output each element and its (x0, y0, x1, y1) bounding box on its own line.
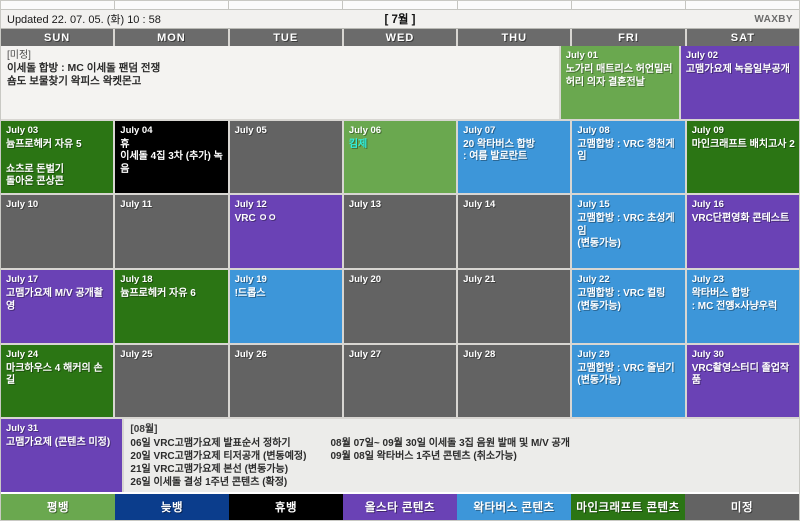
day-events: 고맴가요제 녹음일부공개 (686, 64, 795, 77)
day-cell[interactable]: July 24마크하우스 4 해커의 손길 (1, 345, 115, 418)
day-cell[interactable]: July 05 (230, 121, 344, 194)
day-cell[interactable]: July 12VRC ㅇㅇ (230, 195, 344, 268)
brand-label: WAXBY (754, 14, 793, 25)
day-events: 노가리 매트리스 허언밀러 허리 의자 결혼전날 (566, 64, 675, 89)
undecided-lines: 이세돌 합방 : MC 이세돌 팬덤 전쟁 숌도 보물찾기 왁피스 왁켓몬고 (7, 62, 553, 88)
undecided-band[interactable]: [미정]이세돌 합방 : MC 이세돌 팬덤 전쟁 숌도 보물찾기 왁피스 왁켓… (1, 46, 561, 119)
day-cell[interactable]: July 06킴제 (344, 121, 458, 194)
day-cell[interactable]: July 26 (230, 345, 344, 418)
legend-item[interactable]: 미정 (685, 494, 799, 520)
day-cell[interactable]: July 18늄프로헤커 자유 6 (115, 270, 229, 343)
top-strip-segment (229, 1, 343, 9)
day-number: July 23 (692, 274, 795, 285)
top-strip-segment (343, 1, 457, 9)
weekday-sun: SUN (1, 29, 115, 46)
day-number: July 22 (577, 274, 680, 285)
day-number: July 07 (463, 125, 566, 136)
day-number: July 24 (6, 349, 109, 360)
legend-bar: 평뱅늦뱅휴뱅올스타 콘텐츠왁타버스 콘텐츠마인크래프트 콘텐츠미정 (1, 492, 799, 520)
day-cell[interactable]: July 31고맴가요제 (콘텐츠 미정) (1, 419, 124, 492)
day-number: July 08 (577, 125, 680, 136)
day-events: 고맴합방 : VRC 컬링 (변동가능) (577, 288, 680, 313)
day-number: July 06 (349, 125, 452, 136)
week-row: July 24마크하우스 4 해커의 손길July 25July 26July … (1, 345, 799, 420)
top-strip-segment (686, 1, 799, 9)
day-cell[interactable]: July 14 (458, 195, 572, 268)
day-cell[interactable]: July 15고맴합방 : VRC 초성게임 (변동가능) (572, 195, 686, 268)
day-events: 고맴가요제 (콘텐츠 미정) (6, 437, 118, 450)
legend-item[interactable]: 평뱅 (1, 494, 115, 520)
week-row: July 03늄프로헤커 자유 5 쇼츠로 돈벌기 돌아온 콘상콘July 04… (1, 121, 799, 196)
undecided-tag: [미정] (7, 49, 553, 62)
day-number: July 21 (463, 274, 566, 285)
day-cell[interactable]: July 27 (344, 345, 458, 418)
day-number: July 05 (235, 125, 338, 136)
day-cell[interactable]: July 20 (344, 270, 458, 343)
day-number: July 20 (349, 274, 452, 285)
notes-august-block: [08월]06일 VRC고맴가요제 발표순서 정하기 20일 VRC고맴가요제 … (130, 423, 306, 488)
day-number: July 09 (692, 125, 795, 136)
notes-august-list: 06일 VRC고맴가요제 발표순서 정하기 20일 VRC고맴가요제 티저공개 … (130, 438, 306, 488)
day-cell[interactable]: July 09마인크래프트 배치고사 2 (687, 121, 799, 194)
day-number: July 26 (235, 349, 338, 360)
calendar-app: Updated 22. 07. 05. (화) 10 : 58 [ 7월 ] W… (0, 0, 800, 521)
day-events: VRC촬영스터디 졸업작품 (692, 363, 795, 388)
legend-item[interactable]: 올스타 콘텐츠 (343, 494, 457, 520)
top-edge-strip (1, 1, 799, 10)
day-number: July 17 (6, 274, 109, 285)
day-number: July 18 (120, 274, 223, 285)
day-number: July 25 (120, 349, 223, 360)
day-events: 고맴가요제 M/V 공개촬영 (6, 288, 109, 313)
monthly-notes-panel[interactable]: [08월]06일 VRC고맴가요제 발표순서 정하기 20일 VRC고맴가요제 … (124, 419, 799, 492)
day-number: July 27 (349, 349, 452, 360)
day-number: July 04 (120, 125, 223, 136)
day-cell[interactable]: July 23왁타버스 합방 : MC 전얭×사냥우럭 (687, 270, 799, 343)
day-cell[interactable]: July 03늄프로헤커 자유 5 쇼츠로 돈벌기 돌아온 콘상콘 (1, 121, 115, 194)
week-row: July 17고맴가요제 M/V 공개촬영July 18늄프로헤커 자유 6Ju… (1, 270, 799, 345)
day-events: 고맴합방 : VRC 줄넘기 (변동가능) (577, 363, 680, 388)
day-cell[interactable]: July 01노가리 매트리스 허언밀러 허리 의자 결혼전날 (561, 46, 681, 119)
weekday-header-row: SUN MON TUE WED THU FRI SAT (1, 29, 799, 46)
day-events: 20 왁타버스 합방 : 여름 발로란트 (463, 139, 566, 164)
day-cell[interactable]: July 30VRC촬영스터디 졸업작품 (687, 345, 799, 418)
day-number: July 03 (6, 125, 109, 136)
day-cell[interactable]: July 0720 왁타버스 합방 : 여름 발로란트 (458, 121, 572, 194)
day-number: July 02 (686, 50, 795, 61)
week-row: July 10July 11July 12VRC ㅇㅇJuly 13July 1… (1, 195, 799, 270)
day-cell[interactable]: July 16VRC단편영화 콘테스트 (687, 195, 799, 268)
day-events: 왁타버스 합방 : MC 전얭×사냥우럭 (692, 288, 795, 313)
top-strip-segment (115, 1, 229, 9)
day-cell[interactable]: July 19!드롭스 (230, 270, 344, 343)
day-cell[interactable]: July 04휴 이세돌 4집 3차 (추가) 녹음 (115, 121, 229, 194)
title-bar: Updated 22. 07. 05. (화) 10 : 58 [ 7월 ] W… (1, 10, 799, 29)
day-events: 마크하우스 4 해커의 손길 (6, 363, 109, 388)
day-cell[interactable]: July 17고맴가요제 M/V 공개촬영 (1, 270, 115, 343)
day-events: 휴 이세돌 4집 3차 (추가) 녹음 (120, 139, 223, 177)
day-events: !드롭스 (235, 288, 338, 301)
day-events: 늄프로헤커 자유 6 (120, 288, 223, 301)
day-number: July 16 (692, 199, 795, 210)
top-strip-segment (458, 1, 572, 9)
day-events: VRC ㅇㅇ (235, 213, 338, 226)
weekday-sat: SAT (687, 29, 799, 46)
day-number: July 12 (235, 199, 338, 210)
legend-item[interactable]: 왁타버스 콘텐츠 (457, 494, 571, 520)
day-events: 킴제 (349, 139, 452, 152)
day-events: 마인크래프트 배치고사 2 (692, 139, 795, 152)
day-cell[interactable]: July 25 (115, 345, 229, 418)
day-cell[interactable]: July 29고맴합방 : VRC 줄넘기 (변동가능) (572, 345, 686, 418)
day-number: July 14 (463, 199, 566, 210)
day-number: July 11 (120, 199, 223, 210)
day-number: July 30 (692, 349, 795, 360)
weekday-wed: WED (344, 29, 458, 46)
day-cell[interactable]: July 28 (458, 345, 572, 418)
day-number: July 01 (566, 50, 675, 61)
notes-august-header: [08월] (130, 423, 306, 436)
weekday-fri: FRI (572, 29, 686, 46)
legend-item[interactable]: 휴뱅 (229, 494, 343, 520)
weekday-tue: TUE (230, 29, 344, 46)
day-number: July 10 (6, 199, 109, 210)
month-label: [ 7월 ] (1, 11, 799, 27)
week-row-last: July 31고맴가요제 (콘텐츠 미정)[08월]06일 VRC고맴가요제 발… (1, 419, 799, 492)
day-number: July 15 (577, 199, 680, 210)
day-cell[interactable]: July 13 (344, 195, 458, 268)
day-cell[interactable]: July 02고맴가요제 녹음일부공개 (681, 46, 799, 119)
week-row: [미정]이세돌 합방 : MC 이세돌 팬덤 전쟁 숌도 보물찾기 왁피스 왁켓… (1, 46, 799, 121)
day-number: July 28 (463, 349, 566, 360)
day-number: July 29 (577, 349, 680, 360)
day-cell[interactable]: July 08고맴합방 : VRC 청천게임 (572, 121, 686, 194)
weekday-thu: THU (458, 29, 572, 46)
top-strip-segment (572, 1, 686, 9)
notes-longterm-block: 08월 07일~ 09월 30일 이세돌 3집 음원 발매 및 M/V 공개 0… (330, 423, 569, 488)
legend-item[interactable]: 마인크래프트 콘텐츠 (571, 494, 685, 520)
day-cell[interactable]: July 22고맴합방 : VRC 컬링 (변동가능) (572, 270, 686, 343)
weekday-mon: MON (115, 29, 229, 46)
day-events: 고맴합방 : VRC 청천게임 (577, 139, 680, 164)
day-number: July 13 (349, 199, 452, 210)
day-number: July 19 (235, 274, 338, 285)
day-events: 고맴합방 : VRC 초성게임 (변동가능) (577, 213, 680, 251)
day-cell[interactable]: July 11 (115, 195, 229, 268)
calendar-grid: [미정]이세돌 합방 : MC 이세돌 팬덤 전쟁 숌도 보물찾기 왁피스 왁켓… (1, 46, 799, 492)
day-cell[interactable]: July 21 (458, 270, 572, 343)
top-strip-segment (1, 1, 115, 9)
legend-item[interactable]: 늦뱅 (115, 494, 229, 520)
day-cell[interactable]: July 10 (1, 195, 115, 268)
day-events: VRC단편영화 콘테스트 (692, 213, 795, 226)
day-events: 늄프로헤커 자유 5 쇼츠로 돈벌기 돌아온 콘상콘 (6, 139, 109, 189)
day-number: July 31 (6, 423, 118, 434)
